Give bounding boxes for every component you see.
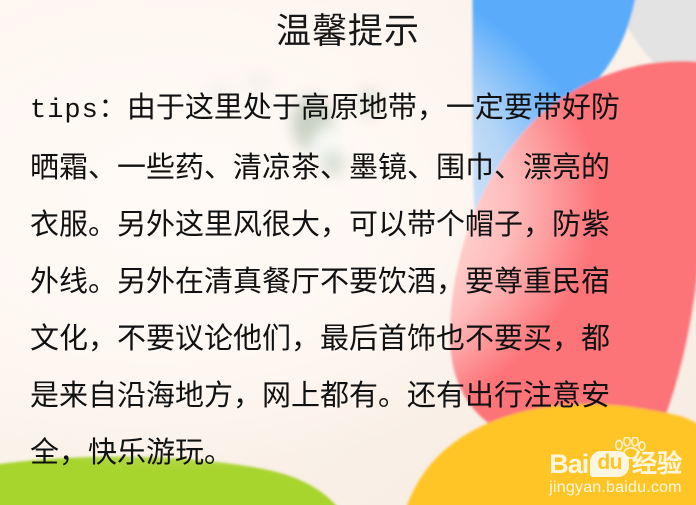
tips-label: tips：: [30, 96, 127, 126]
slide-canvas: 温馨提示 tips：由于这里处于高原地带，一定要带好防 晒霜、一些药、清凉茶、墨…: [0, 0, 696, 505]
body-line: 衣服。另外这里风很大，可以带个帽子，防紫: [30, 197, 680, 254]
body-line: 晒霜、一些药、清凉茶、墨镜、围巾、漂亮的: [30, 140, 680, 197]
body-line: 外线。另外在清真餐厅不要饮酒，要尊重民宿: [30, 254, 680, 311]
body-line: 文化，不要议论他们，最后首饰也不要买，都: [30, 311, 680, 368]
slide-content: 温馨提示 tips：由于这里处于高原地带，一定要带好防 晒霜、一些药、清凉茶、墨…: [0, 0, 696, 505]
body-line: 是来自沿海地方，网上都有。还有出行注意安: [30, 368, 680, 425]
paw-print-icon: [613, 437, 647, 459]
baidu-jingyan-watermark: Bai du 经验 jingyan.baidu.com: [549, 448, 682, 497]
body-line: tips：由于这里处于高原地带，一定要带好防: [30, 80, 680, 140]
watermark-bai-text: Bai: [549, 451, 588, 478]
watermark-logo: Bai du 经验: [549, 448, 682, 478]
body-line-rest: 由于这里处于高原地带，一定要带好防: [127, 92, 620, 124]
page-title: 温馨提示: [0, 8, 696, 56]
slide-body-text: tips：由于这里处于高原地带，一定要带好防 晒霜、一些药、清凉茶、墨镜、围巾、…: [30, 80, 680, 482]
watermark-url: jingyan.baidu.com: [549, 479, 682, 497]
